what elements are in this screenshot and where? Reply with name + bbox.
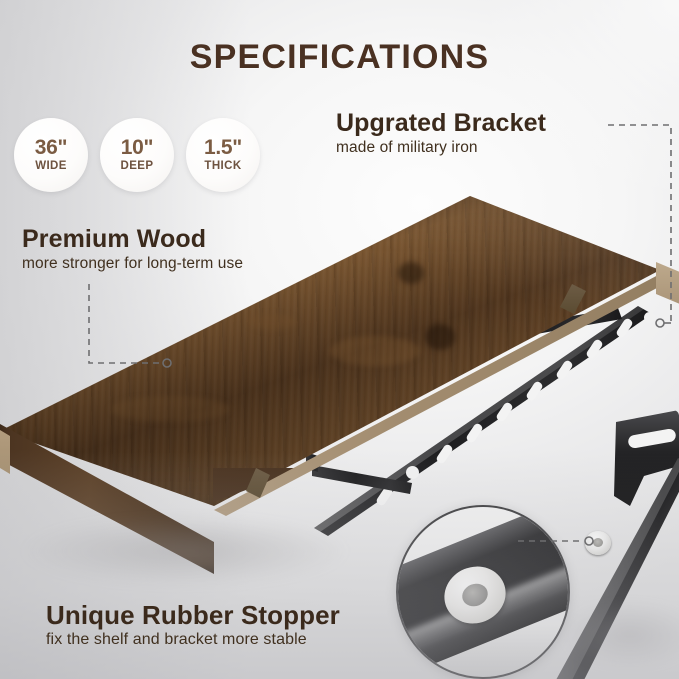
rubber-stopper-closeup-inset: [396, 505, 570, 679]
badge-width-label: WIDE: [35, 161, 67, 173]
badge-depth-value: 10": [121, 137, 153, 158]
specifications-infographic: SPECIFICATIONS 36" WIDE 10" DEEP 1.5" TH…: [0, 0, 679, 679]
rubber-stopper-center: [593, 538, 603, 547]
page-title: SPECIFICATIONS: [0, 38, 679, 77]
callout-wood-heading: Premium Wood: [22, 226, 243, 253]
badge-depth: 10" DEEP: [100, 118, 174, 192]
badge-thickness-label: THICK: [204, 161, 241, 173]
badge-depth-label: DEEP: [121, 161, 154, 173]
bracket-mount-hole: [406, 466, 419, 479]
badge-width: 36" WIDE: [14, 118, 88, 192]
badge-thickness-value: 1.5": [204, 137, 242, 158]
badge-thickness: 1.5" THICK: [186, 118, 260, 192]
callout-stopper-heading: Unique Rubber Stopper: [46, 601, 340, 629]
wood-knot: [178, 288, 208, 302]
product-photo: [0, 0, 679, 679]
badge-width-value: 36": [35, 137, 67, 158]
callout-bracket-heading: Upgrated Bracket: [336, 110, 546, 137]
callout-bracket-subtext: made of military iron: [336, 139, 546, 157]
callout-bracket: Upgrated Bracket made of military iron: [336, 110, 546, 157]
closeup-shading: [398, 625, 568, 677]
shelf-drop-shadow: [20, 516, 350, 586]
bracket-rod-shadow: [560, 600, 679, 670]
wood-knot: [300, 226, 340, 244]
dimension-badges: 36" WIDE 10" DEEP 1.5" THICK: [14, 118, 260, 192]
wood-knot: [95, 348, 129, 363]
callout-wood-subtext: more stronger for long-term use: [22, 255, 243, 273]
callout-stopper: Unique Rubber Stopper fix the shelf and …: [46, 601, 340, 649]
callout-stopper-subtext: fix the shelf and bracket more stable: [46, 631, 340, 649]
bracket-mount-hole: [644, 312, 655, 323]
callout-wood: Premium Wood more stronger for long-term…: [22, 226, 243, 273]
